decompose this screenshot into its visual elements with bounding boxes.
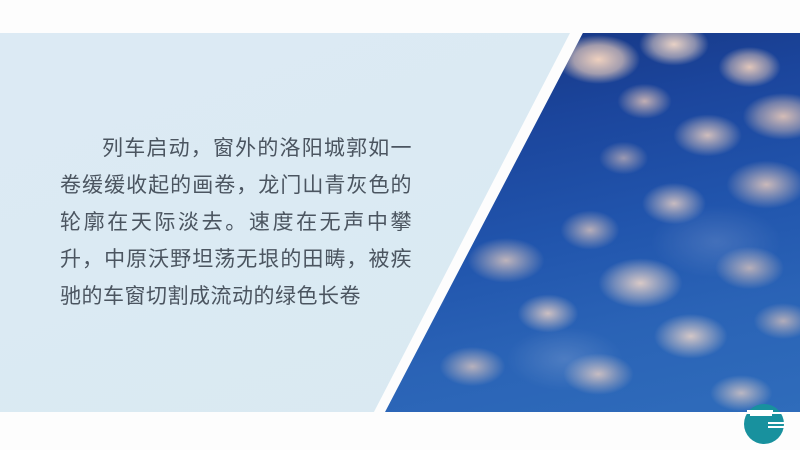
logo-stripe-3: [768, 422, 786, 424]
body-copy-block: 列车启动，窗外的洛阳城郭如一卷缓缓收起的画卷，龙门山青灰色的轮廓在天际淡去。速度…: [60, 130, 412, 315]
logo-stripe-2: [750, 414, 772, 416]
body-paragraph: 列车启动，窗外的洛阳城郭如一卷缓缓收起的画卷，龙门山青灰色的轮廓在天际淡去。速度…: [60, 130, 412, 315]
slide-canvas: 列车启动，窗外的洛阳城郭如一卷缓缓收起的画卷，龙门山青灰色的轮廓在天际淡去。速度…: [0, 0, 800, 450]
logo-stripe-4: [768, 426, 786, 428]
logo-top-cut: [738, 412, 790, 414]
